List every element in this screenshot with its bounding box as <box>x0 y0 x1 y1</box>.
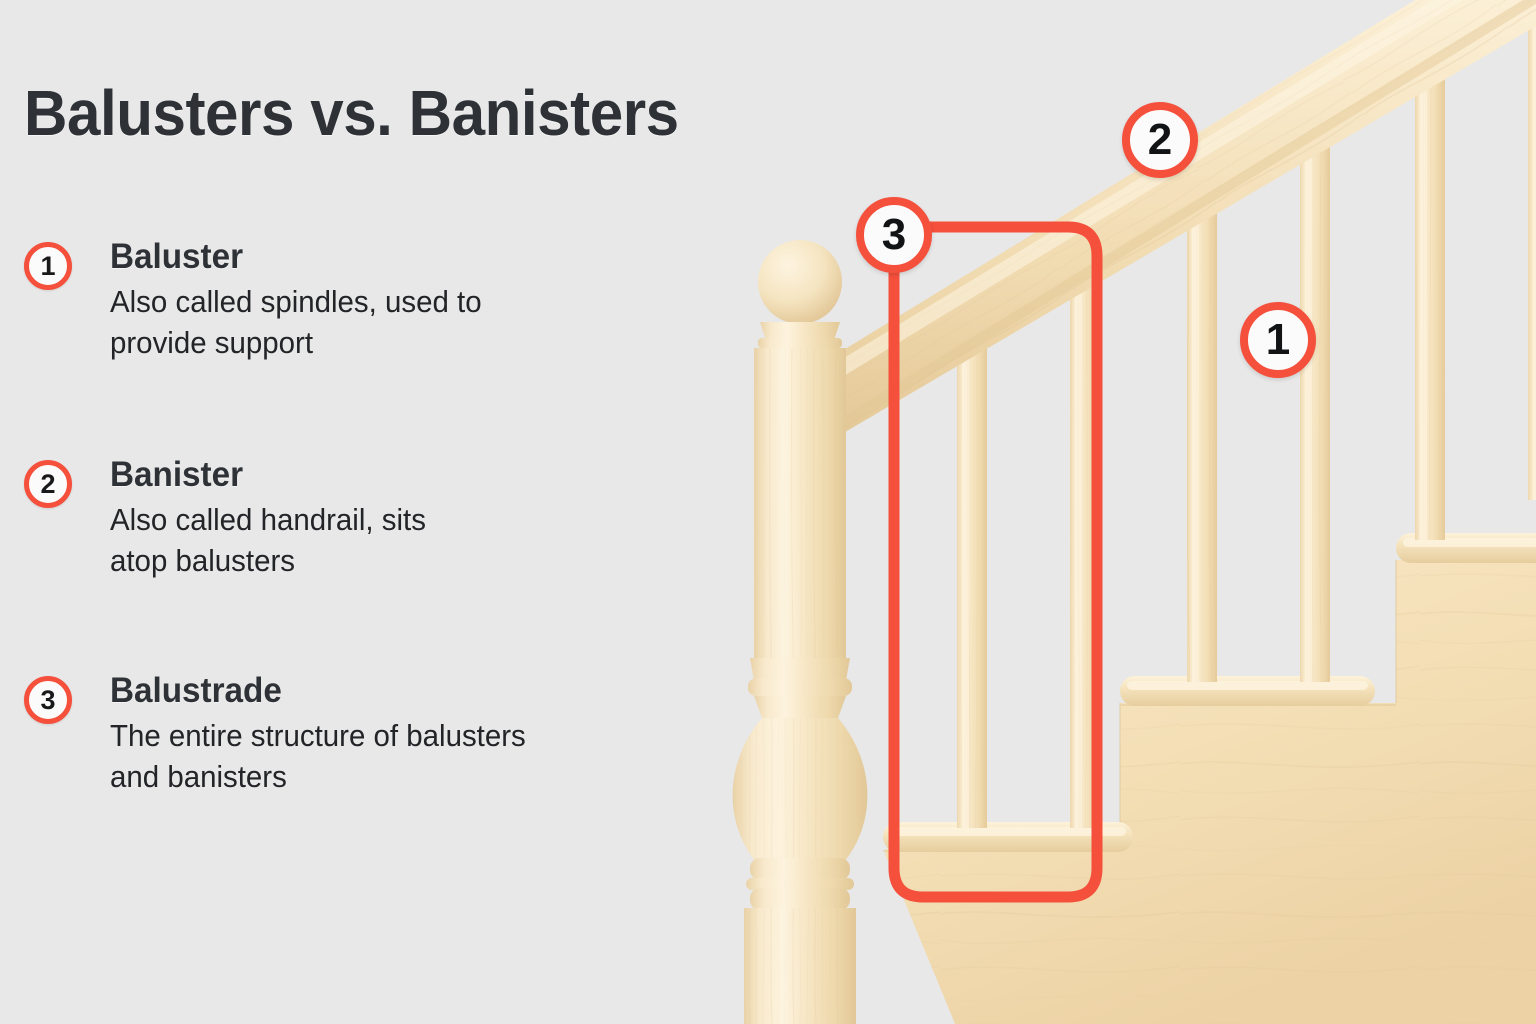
legend-badge-3: 3 <box>24 676 72 724</box>
ball-finial <box>758 240 842 324</box>
marker-badge-2[interactable]: 2 <box>1122 102 1198 178</box>
baluster <box>1187 190 1217 682</box>
legend-term: Banister <box>110 456 699 495</box>
legend-text-block: Banister Also called handrail, sits atop… <box>110 456 730 581</box>
legend-description: Also called spindles, used to provide su… <box>110 281 699 363</box>
marker-badge-3[interactable]: 3 <box>856 197 932 273</box>
staircase-drawing <box>700 0 1536 1024</box>
legend-term: Balustrade <box>110 672 699 711</box>
legend-panel: Balusters vs. Banisters 1 Baluster Also … <box>0 0 740 1024</box>
baluster <box>1300 125 1330 682</box>
legend-text-block: Balustrade The entire structure of balus… <box>110 672 730 797</box>
baluster <box>957 328 987 828</box>
legend-badge-1: 1 <box>24 242 72 290</box>
baluster <box>1528 0 1536 500</box>
legend-badge-2: 2 <box>24 460 72 508</box>
legend-term: Baluster <box>110 238 699 277</box>
page-title: Balusters vs. Banisters <box>24 76 679 150</box>
legend-text-block: Baluster Also called spindles, used to p… <box>110 238 730 363</box>
baluster <box>1415 56 1445 540</box>
infographic-canvas: Balusters vs. Banisters 1 Baluster Also … <box>0 0 1536 1024</box>
marker-badge-1[interactable]: 1 <box>1240 302 1316 378</box>
legend-description: Also called handrail, sits atop baluster… <box>110 499 699 581</box>
legend-description: The entire structure of balusters and ba… <box>110 715 699 797</box>
staircase-illustration: 2 1 3 <box>700 0 1536 1024</box>
shoe-rail-middle <box>1120 676 1375 706</box>
